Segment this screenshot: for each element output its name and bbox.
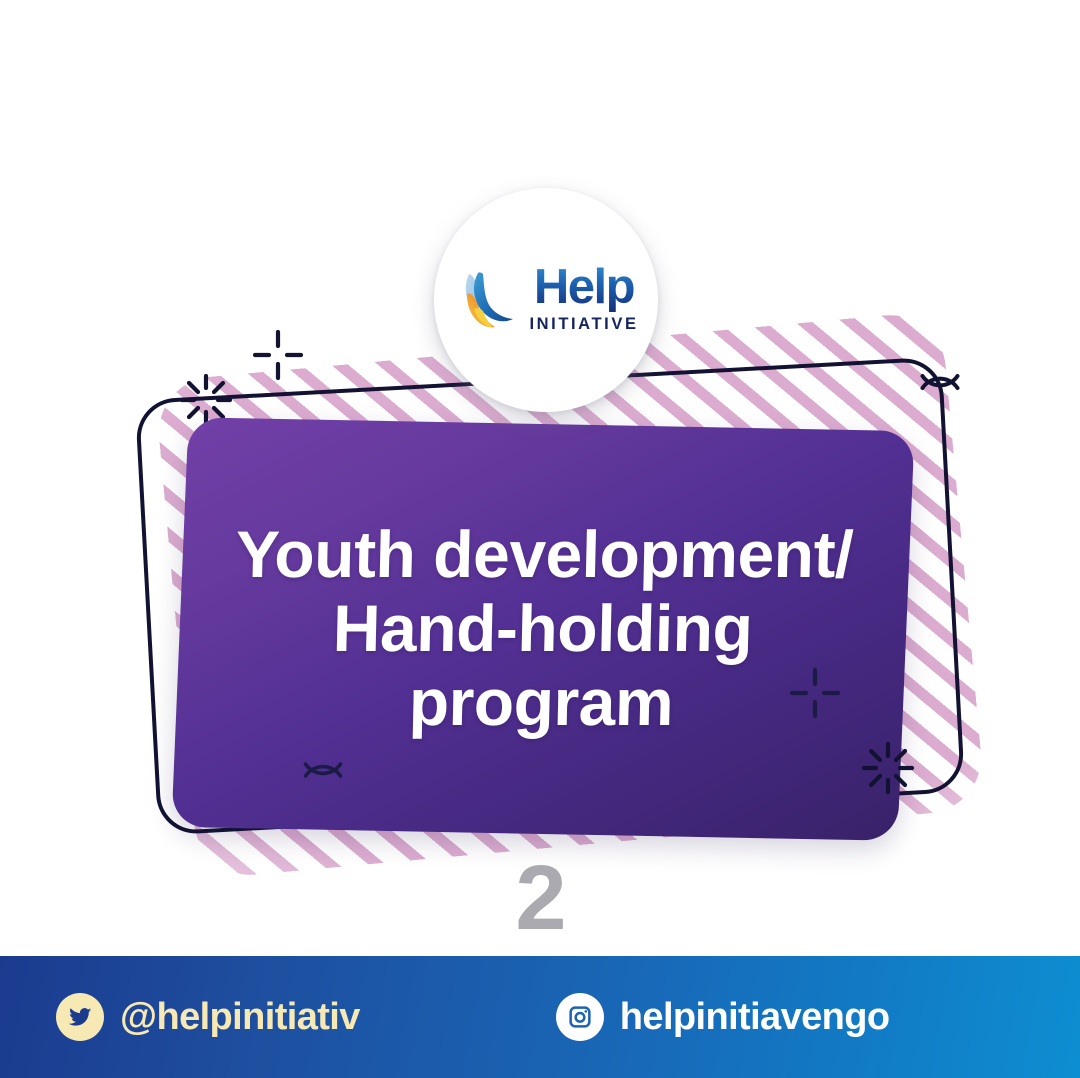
twitter-bird-icon — [56, 993, 104, 1041]
logo-lockup: Help INITIATIVE — [453, 261, 638, 335]
social-footer-bar: @helpinitiativ helpinitiavengo — [0, 956, 1080, 1078]
twitter-handle-text: @helpinitiativ — [120, 996, 360, 1039]
instagram-camera-icon — [556, 993, 604, 1041]
card-title-line-3: program — [408, 665, 674, 739]
split-ring-icon — [913, 355, 967, 409]
content-card: Youth development/ Hand-holding program — [171, 417, 914, 841]
step-number: 2 — [0, 846, 1080, 951]
poster-canvas: Youth development/ Hand-holding program — [0, 0, 1080, 1078]
logo-word-initiative: INITIATIVE — [529, 316, 638, 333]
hand-wing-swoosh-icon — [453, 261, 527, 335]
social-handle-instagram[interactable]: helpinitiavengo — [556, 993, 890, 1041]
social-handle-twitter[interactable]: @helpinitiativ — [56, 993, 360, 1041]
instagram-handle-text: helpinitiavengo — [620, 996, 890, 1039]
logo-badge: Help INITIATIVE — [434, 188, 658, 412]
logo-wordmark: Help INITIATIVE — [529, 263, 638, 333]
card-title: Youth development/ Hand-holding program — [214, 518, 873, 740]
card-title-line-2: Hand-holding — [332, 591, 753, 665]
plus-marker-icon — [250, 327, 306, 383]
card-title-line-1: Youth development/ — [235, 517, 854, 591]
logo-word-help: Help — [534, 263, 634, 312]
